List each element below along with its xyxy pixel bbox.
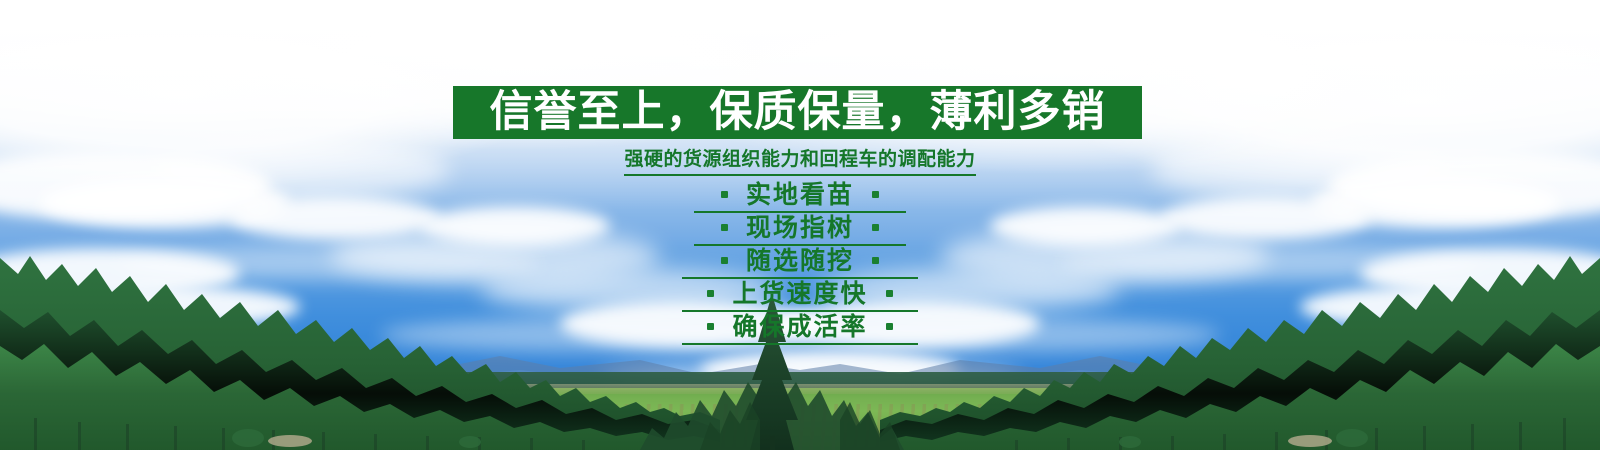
bullet-dot-icon [707,323,714,330]
feature-label: 随选随挖 [746,248,854,273]
bullet-dot-icon [872,191,879,198]
bullet-dot-icon [707,290,714,297]
bullet-dot-icon [872,224,879,231]
feature-label: 现场指树 [746,215,854,240]
feature-item: 上货速度快 [707,277,892,310]
feature-item: 确保成活率 [707,310,892,343]
feature-label: 实地看苗 [746,182,854,207]
feature-label: 确保成活率 [732,314,867,339]
promo-banner: 信誉至上，保质保量，薄利多销 强硬的货源组织能力和回程车的调配能力 实地看苗 现… [0,0,1600,450]
bullet-dot-icon [872,257,879,264]
feature-item: 实地看苗 [721,178,879,211]
banner-content: 信誉至上，保质保量，薄利多销 强硬的货源组织能力和回程车的调配能力 实地看苗 现… [0,0,1600,450]
bullet-dot-icon [721,191,728,198]
feature-item: 随选随挖 [721,244,879,277]
bullet-dot-icon [721,224,728,231]
headline-text: 信誉至上，保质保量，薄利多销 [490,91,1106,134]
feature-label: 上货速度快 [732,281,867,306]
bullet-dot-icon [886,290,893,297]
headline-banner: 信誉至上，保质保量，薄利多销 [453,86,1142,139]
bullet-dot-icon [721,257,728,264]
feature-item: 现场指树 [721,211,879,244]
bullet-dot-icon [886,323,893,330]
subtitle-container: 强硬的货源组织能力和回程车的调配能力 [0,144,1600,176]
feature-list: 实地看苗 现场指树 随选随挖 上货速度快 确保成活率 [0,178,1600,343]
subtitle-text: 强硬的货源组织能力和回程车的调配能力 [624,144,975,176]
